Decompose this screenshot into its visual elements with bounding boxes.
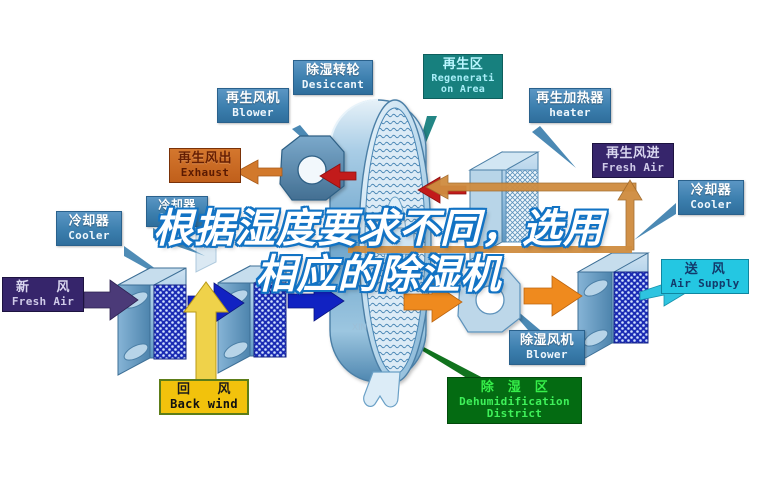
label-regeneration-fresh-air-cn: 再生风进: [597, 147, 669, 162]
label-cooler-left[interactable]: 冷却器 Cooler: [56, 211, 122, 246]
label-dehumidification-blower-en: Blower: [514, 349, 580, 361]
label-desiccant-wheel-en: Desiccant: [298, 79, 368, 91]
label-fresh-air-intake-cn: 新 风: [7, 281, 79, 296]
label-regeneration-exhaust[interactable]: 再生风出 Exhaust: [169, 148, 241, 183]
label-regeneration-heater[interactable]: 再生加热器 heater: [529, 88, 611, 123]
label-cooler-right[interactable]: 冷却器 Cooler: [678, 180, 744, 215]
label-regeneration-heater-cn: 再生加热器: [534, 92, 606, 107]
label-regeneration-exhaust-en: Exhaust: [174, 167, 236, 179]
label-regeneration-fresh-air[interactable]: 再生风进 Fresh Air: [592, 143, 674, 178]
label-regeneration-area[interactable]: 再生区 Regenerati on Area: [423, 54, 503, 99]
label-back-wind-en: Back wind: [165, 398, 243, 411]
label-regeneration-blower[interactable]: 再生风机 Blower: [217, 88, 289, 123]
label-dehumidification-blower[interactable]: 除湿风机 Blower: [509, 330, 585, 365]
label-regeneration-heater-en: heater: [534, 107, 606, 119]
label-dehumidification-blower-cn: 除湿风机: [514, 334, 580, 349]
process-blower-housing: [458, 268, 520, 332]
label-back-wind[interactable]: 回 风 Back wind: [159, 379, 249, 415]
label-cooler-left-cn: 冷却器: [61, 215, 117, 230]
label-desiccant-wheel[interactable]: 除湿转轮 Desiccant: [293, 60, 373, 95]
label-cooler-right-cn: 冷却器: [683, 184, 739, 199]
label-regeneration-blower-cn: 再生风机: [222, 92, 284, 107]
label-regeneration-area-en-1: Regenerati: [427, 73, 499, 84]
label-back-wind-cn: 回 风: [165, 383, 243, 398]
label-cooler-left-en: Cooler: [61, 230, 117, 242]
label-regeneration-area-en-2: on Area: [427, 84, 499, 95]
label-dehumidification-district[interactable]: 除 湿 区 Dehumidification District: [447, 377, 582, 424]
label-cooler-left-upper[interactable]: 冷却器 Cooler: [146, 196, 208, 227]
label-air-supply-en: Air Supply: [666, 278, 744, 290]
label-cooler-left-upper-en: Cooler: [151, 212, 203, 223]
label-regeneration-fresh-air-en: Fresh Air: [597, 162, 669, 174]
dehumidifier-diagram: XIN: [0, 0, 757, 488]
desiccant-rotor: XIN: [330, 100, 431, 382]
label-fresh-air-intake[interactable]: 新 风 Fresh Air: [2, 277, 84, 312]
svg-text:XIN: XIN: [352, 322, 367, 332]
label-regeneration-blower-en: Blower: [222, 107, 284, 119]
label-cooler-right-en: Cooler: [683, 199, 739, 211]
label-regeneration-exhaust-cn: 再生风出: [174, 152, 236, 167]
label-air-supply[interactable]: 送 风 Air Supply: [661, 259, 749, 294]
label-desiccant-wheel-cn: 除湿转轮: [298, 64, 368, 79]
label-regeneration-area-cn: 再生区: [427, 58, 499, 73]
label-cooler-left-upper-cn: 冷却器: [151, 199, 203, 212]
label-dehumidification-district-en-2: District: [452, 408, 577, 420]
label-dehumidification-district-en-1: Dehumidification: [452, 396, 577, 408]
label-dehumidification-district-cn: 除 湿 区: [452, 381, 577, 396]
label-fresh-air-intake-en: Fresh Air: [7, 296, 79, 308]
label-air-supply-cn: 送 风: [666, 263, 744, 278]
